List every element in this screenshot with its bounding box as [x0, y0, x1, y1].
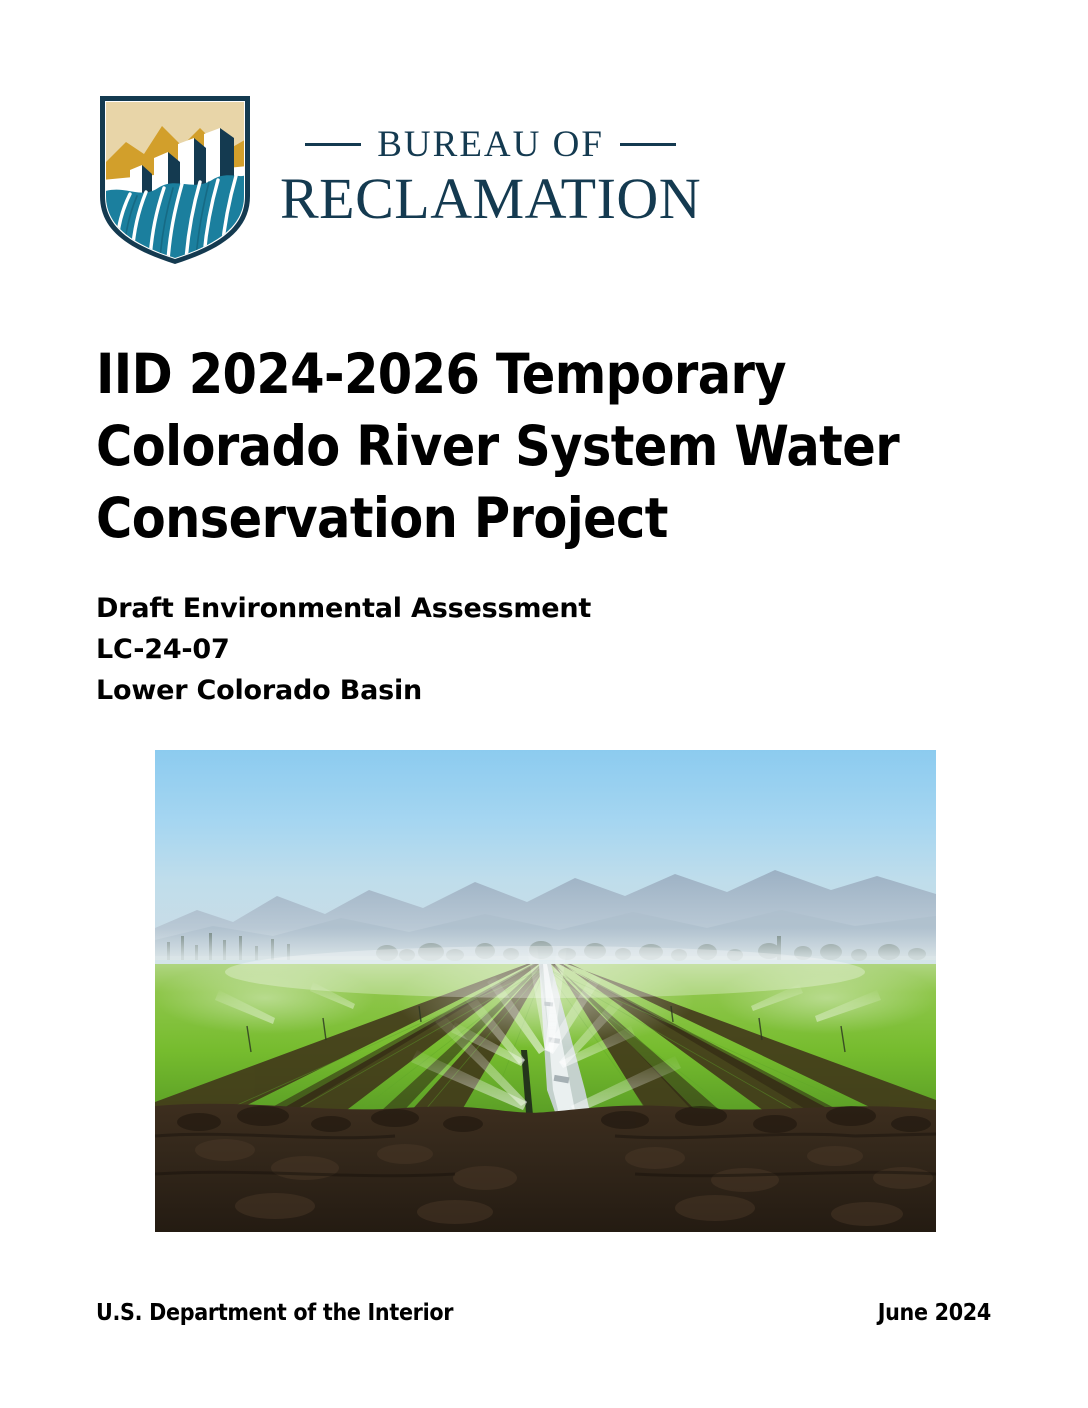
- document-cover-page: Bureau of Reclamation IID 2024-2026 Temp…: [0, 0, 1088, 1408]
- wordmark-rule-right-icon: [620, 143, 676, 146]
- subtitle-line-assessment-type: Draft Environmental Assessment: [96, 588, 796, 629]
- page-title: IID 2024-2026 Temporary Colorado River S…: [96, 338, 1006, 554]
- subtitle-line-document-number: LC-24-07: [96, 629, 796, 670]
- wordmark-bureau-of-text: Bureau of: [377, 126, 604, 163]
- wordmark-reclamation-text: Reclamation: [280, 169, 701, 230]
- footer-date: June 2024: [878, 1300, 991, 1326]
- subtitle-block: Draft Environmental Assessment LC-24-07 …: [96, 588, 796, 711]
- subtitle-line-basin: Lower Colorado Basin: [96, 670, 796, 711]
- reclamation-shield-icon: [96, 88, 254, 264]
- reclamation-wordmark: Bureau of Reclamation: [280, 122, 701, 230]
- wordmark-bureau-of-line: Bureau of: [305, 126, 676, 163]
- wordmark-rule-left-icon: [305, 143, 361, 146]
- irrigated-field-sprinklers-photo: [155, 750, 936, 1232]
- page-footer: U.S. Department of the Interior June 202…: [96, 1300, 991, 1326]
- bureau-of-reclamation-logo: Bureau of Reclamation: [96, 88, 701, 264]
- footer-department: U.S. Department of the Interior: [96, 1300, 453, 1326]
